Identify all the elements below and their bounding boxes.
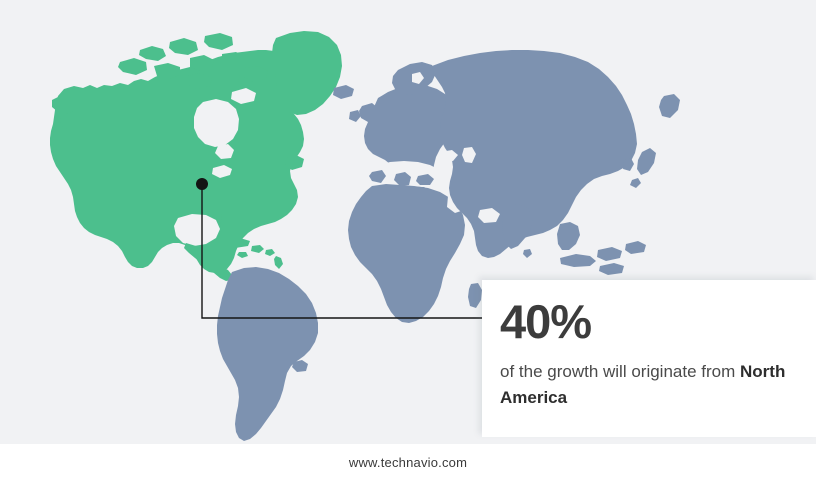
map-panel: 40% of the growth will originate from No… bbox=[0, 0, 816, 444]
callout-description: of the growth will originate from North … bbox=[500, 359, 790, 411]
footer-bar: www.technavio.com bbox=[0, 444, 816, 480]
callout-percentage: 40% bbox=[500, 298, 816, 347]
footer-url[interactable]: www.technavio.com bbox=[349, 455, 467, 470]
callout-description-prefix: of the growth will originate from bbox=[500, 362, 740, 381]
north-america-marker-icon[interactable] bbox=[196, 178, 208, 190]
infographic-screenshot: 40% of the growth will originate from No… bbox=[0, 0, 816, 480]
callout-box: 40% of the growth will originate from No… bbox=[482, 280, 816, 437]
